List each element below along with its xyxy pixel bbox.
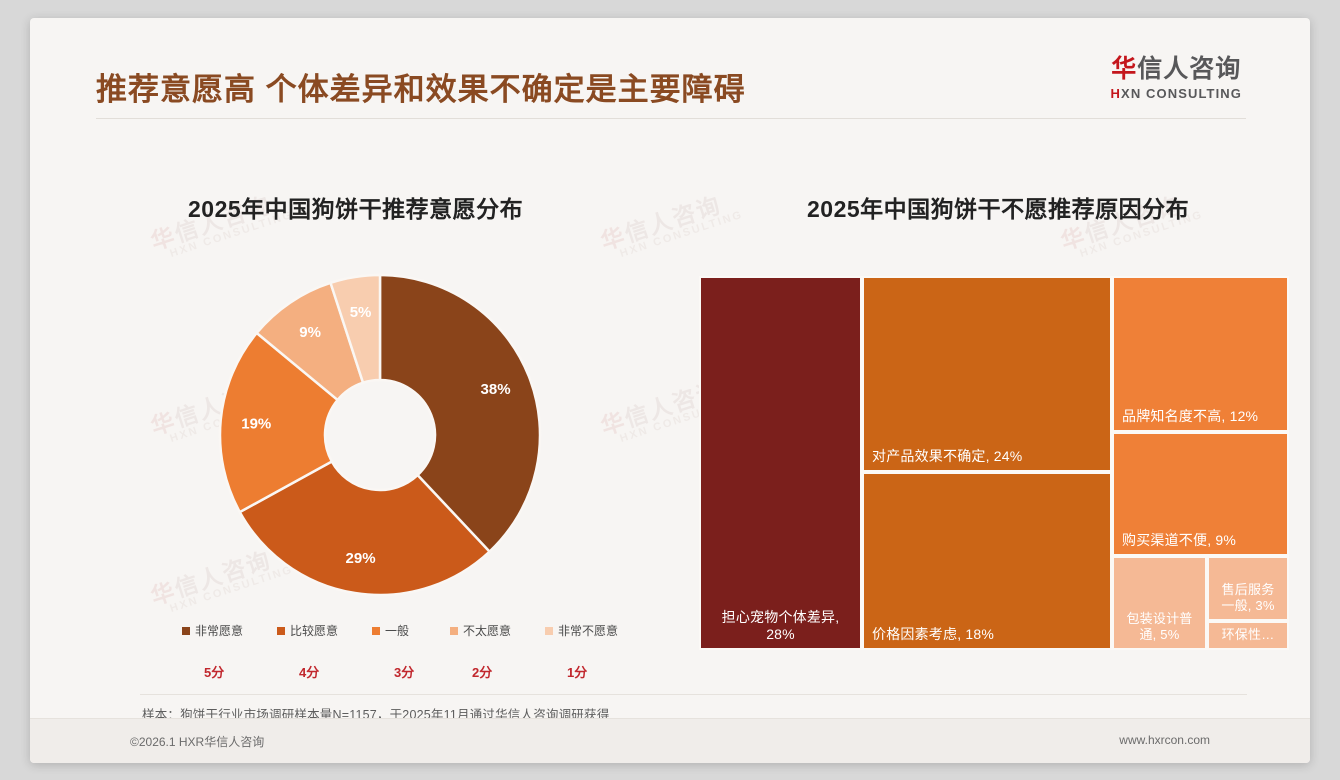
watermark-accent-char: 华 — [148, 577, 180, 609]
logo-en-text: XN CONSULTING — [1121, 86, 1242, 101]
donut-score-row: 5分4分3分2分1分 — [182, 662, 652, 682]
page-title: 推荐意愿高 个体差异和效果不确定是主要障碍 — [96, 64, 746, 109]
header-divider — [96, 118, 1246, 119]
treemap-cell-对产品效果不确定[interactable]: 对产品效果不确定, 24% — [862, 276, 1112, 472]
slide-header: 推荐意愿高 个体差异和效果不确定是主要障碍 华信人咨询 HXN CONSULTI… — [30, 18, 1310, 128]
watermark-accent-char: 华 — [1058, 222, 1090, 254]
slide-canvas: 华信人咨询 HXN CONSULTING 华信人咨询 HXN CONSULTIN… — [30, 18, 1310, 763]
treemap-cell-价格因素考虑[interactable]: 价格因素考虑, 18% — [862, 472, 1112, 650]
legend-swatch-icon — [277, 627, 285, 635]
donut-chart: 38%29%19%9%5% — [215, 270, 545, 600]
brand-logo: 华信人咨询 HXN CONSULTING — [1111, 56, 1242, 101]
treemap-cell-label: 价格因素考虑, 18% — [864, 626, 1110, 643]
donut-slice-label: 19% — [241, 415, 271, 432]
score-label-2分: 2分 — [472, 662, 492, 681]
watermark-accent-char: 华 — [148, 407, 180, 439]
donut-chart-title: 2025年中国狗饼干推荐意愿分布 — [188, 190, 523, 224]
donut-slice-label: 29% — [346, 550, 376, 567]
treemap-cell-label: 担心宠物个体差异, 28% — [701, 609, 860, 643]
legend-label: 非常不愿意 — [558, 622, 618, 639]
footnote-divider — [140, 694, 1247, 695]
donut-slice-label: 38% — [481, 381, 511, 398]
watermark: 华信人咨询 HXN CONSULTING — [598, 187, 745, 265]
treemap-cell-担心宠物个体差异[interactable]: 担心宠物个体差异, 28% — [699, 276, 862, 650]
legend-label: 不太愿意 — [463, 622, 511, 639]
score-label-1分: 1分 — [567, 662, 587, 681]
treemap-chart: 担心宠物个体差异, 28%对产品效果不确定, 24%价格因素考虑, 18%品牌知… — [699, 276, 1289, 650]
legend-item-一般[interactable]: 一般 — [372, 622, 409, 639]
donut-legend: 非常愿意比较愿意一般不太愿意非常不愿意 — [182, 622, 652, 640]
legend-swatch-icon — [450, 627, 458, 635]
watermark-cn-text: 信人咨询 — [621, 191, 724, 247]
watermark-en-text: HXN CONSULTING — [619, 210, 745, 261]
legend-item-不太愿意[interactable]: 不太愿意 — [450, 622, 511, 639]
legend-item-比较愿意[interactable]: 比较愿意 — [277, 622, 338, 639]
watermark-accent-char: 华 — [148, 222, 180, 254]
treemap-cell-包装设计普通[interactable]: 包装设计普通, 5% — [1112, 556, 1207, 650]
legend-swatch-icon — [182, 627, 190, 635]
treemap-cell-环保性[interactable]: 环保性… — [1207, 621, 1289, 650]
treemap-cell-label: 售后服务一般, 3% — [1209, 582, 1287, 614]
legend-label: 比较愿意 — [290, 622, 338, 639]
treemap-cell-label: 包装设计普通, 5% — [1114, 611, 1205, 643]
treemap-cell-label: 品牌知名度不高, 12% — [1114, 408, 1287, 425]
treemap-cell-label: 环保性… — [1209, 627, 1287, 643]
donut-chart-svg: 38%29%19%9%5% — [215, 270, 545, 600]
logo-en-accent-char: H — [1111, 86, 1122, 101]
legend-label: 非常愿意 — [195, 622, 243, 639]
score-label-3分: 3分 — [394, 662, 414, 681]
donut-slice-label: 5% — [350, 304, 372, 321]
treemap-cell-购买渠道不便[interactable]: 购买渠道不便, 9% — [1112, 432, 1289, 556]
treemap-cell-label: 购买渠道不便, 9% — [1114, 532, 1287, 549]
slide-footer: ©2026.1 HXR华信人咨询 www.hxrcon.com — [30, 718, 1310, 763]
legend-swatch-icon — [545, 627, 553, 635]
watermark-accent-char: 华 — [598, 407, 630, 439]
score-label-4分: 4分 — [299, 662, 319, 681]
treemap-cell-label: 对产品效果不确定, 24% — [864, 448, 1110, 465]
score-label-5分: 5分 — [204, 662, 224, 681]
logo-accent-char: 华 — [1111, 55, 1137, 83]
treemap-cell-售后服务一般[interactable]: 售后服务一般, 3% — [1207, 556, 1289, 621]
treemap-cell-品牌知名度不高[interactable]: 品牌知名度不高, 12% — [1112, 276, 1289, 432]
copyright-text: ©2026.1 HXR华信人咨询 — [130, 733, 264, 750]
legend-label: 一般 — [385, 622, 409, 639]
donut-slice-label: 9% — [299, 324, 321, 341]
legend-swatch-icon — [372, 627, 380, 635]
treemap-chart-title: 2025年中国狗饼干不愿推荐原因分布 — [807, 190, 1189, 224]
logo-cn-text: 信人咨询 — [1137, 55, 1241, 83]
website-url: www.hxrcon.com — [1119, 733, 1210, 747]
watermark-accent-char: 华 — [598, 222, 630, 254]
legend-item-非常愿意[interactable]: 非常愿意 — [182, 622, 243, 639]
legend-item-非常不愿意[interactable]: 非常不愿意 — [545, 622, 618, 639]
